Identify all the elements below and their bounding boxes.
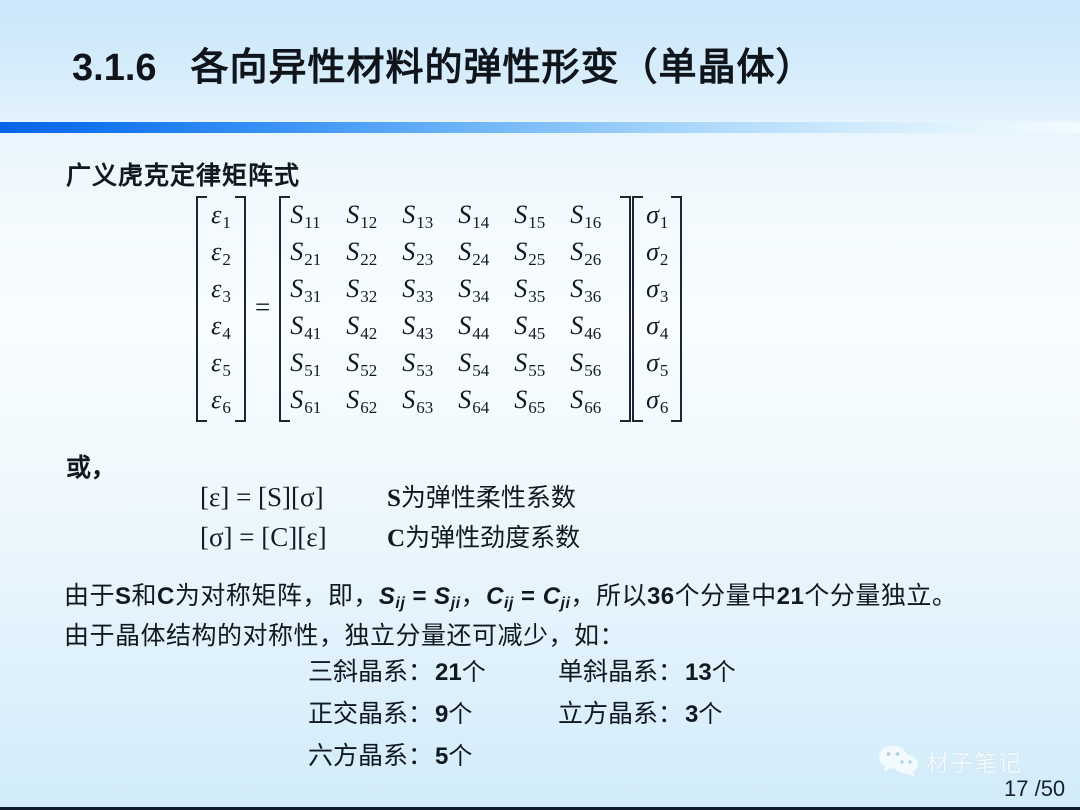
matrix-cell: S24 [455,233,511,270]
stress-subscript: 5 [660,361,669,380]
crystal-count: 5 [435,743,448,770]
count-36: 36 [647,583,675,610]
crystal-systems-list: 三斜晶系：21个 单斜晶系：13个 正交晶系：9个 立方晶系：3个 六方晶系：5… [308,652,808,772]
crystal-unit: 个 [448,702,472,728]
text-fragment: 所以 [596,583,647,610]
stress-subscript: 2 [660,250,669,269]
equation-row: [ε] = [S][σ] S为弹性柔性系数 [200,478,580,518]
matrix-cell: S43 [399,307,455,344]
page-number: 17 /50 [1004,776,1065,802]
matrix-cell: S22 [343,233,399,270]
equals-sign: = [255,292,270,323]
matrix-cell: ε5 [204,344,238,381]
strain-subscript: 6 [222,398,231,417]
crystal-label: 六方晶系： [308,743,433,770]
equation-list: [ε] = [S][σ] S为弹性柔性系数 [σ] = [C][ε] C为弹性劲… [200,478,580,558]
strain-subscript: 5 [222,361,231,380]
matrix-cell: S31 [287,270,343,307]
stiffness-description-text: 为弹性劲度系数 [405,525,580,552]
matrix-cell: σ3 [640,270,674,307]
symbol-cji: Cji [543,583,571,610]
matrix-cell: S15 [511,196,567,233]
text-fragment: 和 [132,583,158,610]
compliance-matrix: S11 S12 S13 S14 S15 S16 S21 S22 S23 S24 … [287,196,623,418]
matrix-cell: ε2 [204,233,238,270]
list-item: 六方晶系：5个 [308,736,558,772]
stress-symbol: σ [646,200,659,229]
text-fragment: ， [461,583,487,610]
strain-symbol: ε [211,237,221,266]
stress-vector-bracket: σ1 σ2 σ3 σ4 σ5 σ6 [632,196,682,418]
matrix-cell: S62 [343,381,399,418]
matrix-cell: S61 [287,381,343,418]
matrix-cell: σ2 [640,233,674,270]
strain-subscript: 1 [222,213,231,232]
count-21: 21 [777,583,805,610]
strain-symbol: ε [211,348,221,377]
equals-sign: = [405,583,434,610]
equation-row: [σ] = [C][ε] C为弹性劲度系数 [200,518,580,558]
crystal-count: 9 [435,701,448,728]
wechat-icon [878,744,920,778]
matrix-cell: σ6 [640,381,674,418]
list-item: 三斜晶系：21个 [308,652,558,688]
crystal-label: 单斜晶系： [558,659,683,686]
symbol-sji: Sji [434,583,460,610]
matrix-cell: ε1 [204,196,238,233]
page-title: 3.1.6 各向异性材料的弹性形变（单晶体） [72,36,815,91]
stress-symbol: σ [646,311,659,340]
symbol-cij: Cij [486,583,514,610]
section-title: 各向异性材料的弹性形变（单晶体） [191,36,815,91]
matrix-cell: S55 [511,344,567,381]
compliance-description-text: 为弹性柔性系数 [401,485,576,512]
stress-subscript: 1 [660,213,669,232]
slide-header: 3.1.6 各向异性材料的弹性形变（单晶体） [0,0,1080,120]
matrix-cell: S21 [287,233,343,270]
matrix-cell: S51 [287,344,343,381]
matrix-cell: S33 [399,270,455,307]
stiffness-symbol-bold: C [387,525,405,552]
equation-stiffness: [σ] = [C][ε] [200,522,365,553]
stress-subscript: 4 [660,324,669,343]
equation-stiffness-description: C为弹性劲度系数 [387,518,580,554]
matrix-cell: S44 [455,307,511,344]
text-fragment: ， [570,583,596,610]
list-item [558,736,808,772]
strain-vector-bracket: ε1 ε2 ε3 ε4 ε5 ε6 [196,196,246,418]
crystal-label: 三斜晶系： [308,659,433,686]
compliance-matrix-bracket: S11 S12 S13 S14 S15 S16 S21 S22 S23 S24 … [279,196,631,418]
symbol-s: S [115,583,132,610]
text-fragment: 由于 [64,583,115,610]
matrix-cell: S35 [511,270,567,307]
list-item: 正交晶系：9个 [308,694,558,730]
matrix-cell: S23 [399,233,455,270]
list-item: 立方晶系：3个 [558,694,808,730]
strain-subscript: 3 [222,287,231,306]
crystal-unit: 个 [698,702,722,728]
matrix-cell: S41 [287,307,343,344]
matrix-cell: S65 [511,381,567,418]
matrix-cell: σ1 [640,196,674,233]
crystal-unit: 个 [712,660,736,686]
matrix-cell: S46 [567,307,623,344]
strain-symbol: ε [211,200,221,229]
matrix-cell: S53 [399,344,455,381]
matrix-cell: σ4 [640,307,674,344]
matrix-cell: S12 [343,196,399,233]
matrix-cell: ε4 [204,307,238,344]
strain-symbol: ε [211,274,221,303]
symbol-c: C [157,583,175,610]
list-item: 单斜晶系：13个 [558,652,808,688]
compliance-symbol-bold: S [387,485,401,512]
stress-symbol: σ [646,385,659,414]
subtitle: 广义虎克定律矩阵式 [66,156,300,192]
matrix-cell: S54 [455,344,511,381]
equation-compliance-description: S为弹性柔性系数 [387,478,576,514]
matrix-cell: S45 [511,307,567,344]
matrix-cell: S63 [399,381,455,418]
matrix-cell: ε6 [204,381,238,418]
stress-subscript: 6 [660,398,669,417]
stress-symbol: σ [646,274,659,303]
matrix-equation: ε1 ε2 ε3 ε4 ε5 ε6 = S11 S12 S13 S14 S15 … [196,196,682,418]
stress-subscript: 3 [660,287,669,306]
matrix-cell: S11 [287,196,343,233]
matrix-cell: S42 [343,307,399,344]
text-fragment: 个分量中 [675,583,777,610]
crystal-count: 13 [685,659,712,686]
matrix-cell: S16 [567,196,623,233]
matrix-cell: S34 [455,270,511,307]
crystal-label: 立方晶系： [558,701,683,728]
matrix-cell: S26 [567,233,623,270]
matrix-cell: S66 [567,381,623,418]
stress-vector: σ1 σ2 σ3 σ4 σ5 σ6 [640,196,674,418]
crystal-unit: 个 [462,660,486,686]
equals-sign: = [514,583,543,610]
matrix-cell: S13 [399,196,455,233]
matrix-cell: S36 [567,270,623,307]
matrix-cell: S56 [567,344,623,381]
symbol-sij: Sij [379,583,405,610]
text-fragment: 为对称矩阵，即， [175,583,379,610]
crystal-label: 正交晶系： [308,701,433,728]
section-number: 3.1.6 [72,47,157,90]
strain-vector: ε1 ε2 ε3 ε4 ε5 ε6 [204,196,238,418]
strain-subscript: 2 [222,250,231,269]
matrix-cell: S14 [455,196,511,233]
crystal-symmetry-statement: 由于晶体结构的对称性，独立分量还可减少，如： [64,616,625,652]
strain-symbol: ε [211,385,221,414]
text-fragment: 个分量独立。 [804,583,957,610]
watermark-text: 材子笔记 [926,744,1022,778]
or-label: 或， [66,448,116,484]
matrix-cell: S64 [455,381,511,418]
crystal-count: 21 [435,659,462,686]
matrix-cell: σ5 [640,344,674,381]
strain-subscript: 4 [222,324,231,343]
crystal-unit: 个 [448,744,472,770]
strain-symbol: ε [211,311,221,340]
symmetry-statement: 由于S和C为对称矩阵，即，Sij = Sji，Cij = Cji，所以36个分量… [64,576,957,613]
matrix-cell: S25 [511,233,567,270]
matrix-cell: S32 [343,270,399,307]
crystal-count: 3 [685,701,698,728]
equation-compliance: [ε] = [S][σ] [200,482,365,513]
matrix-cell: ε3 [204,270,238,307]
stress-symbol: σ [646,348,659,377]
header-divider [0,122,1080,133]
matrix-cell: S52 [343,344,399,381]
stress-symbol: σ [646,237,659,266]
watermark: 材子笔记 [878,744,1022,778]
slide: 3.1.6 各向异性材料的弹性形变（单晶体） 广义虎克定律矩阵式 ε1 ε2 ε… [0,0,1080,810]
